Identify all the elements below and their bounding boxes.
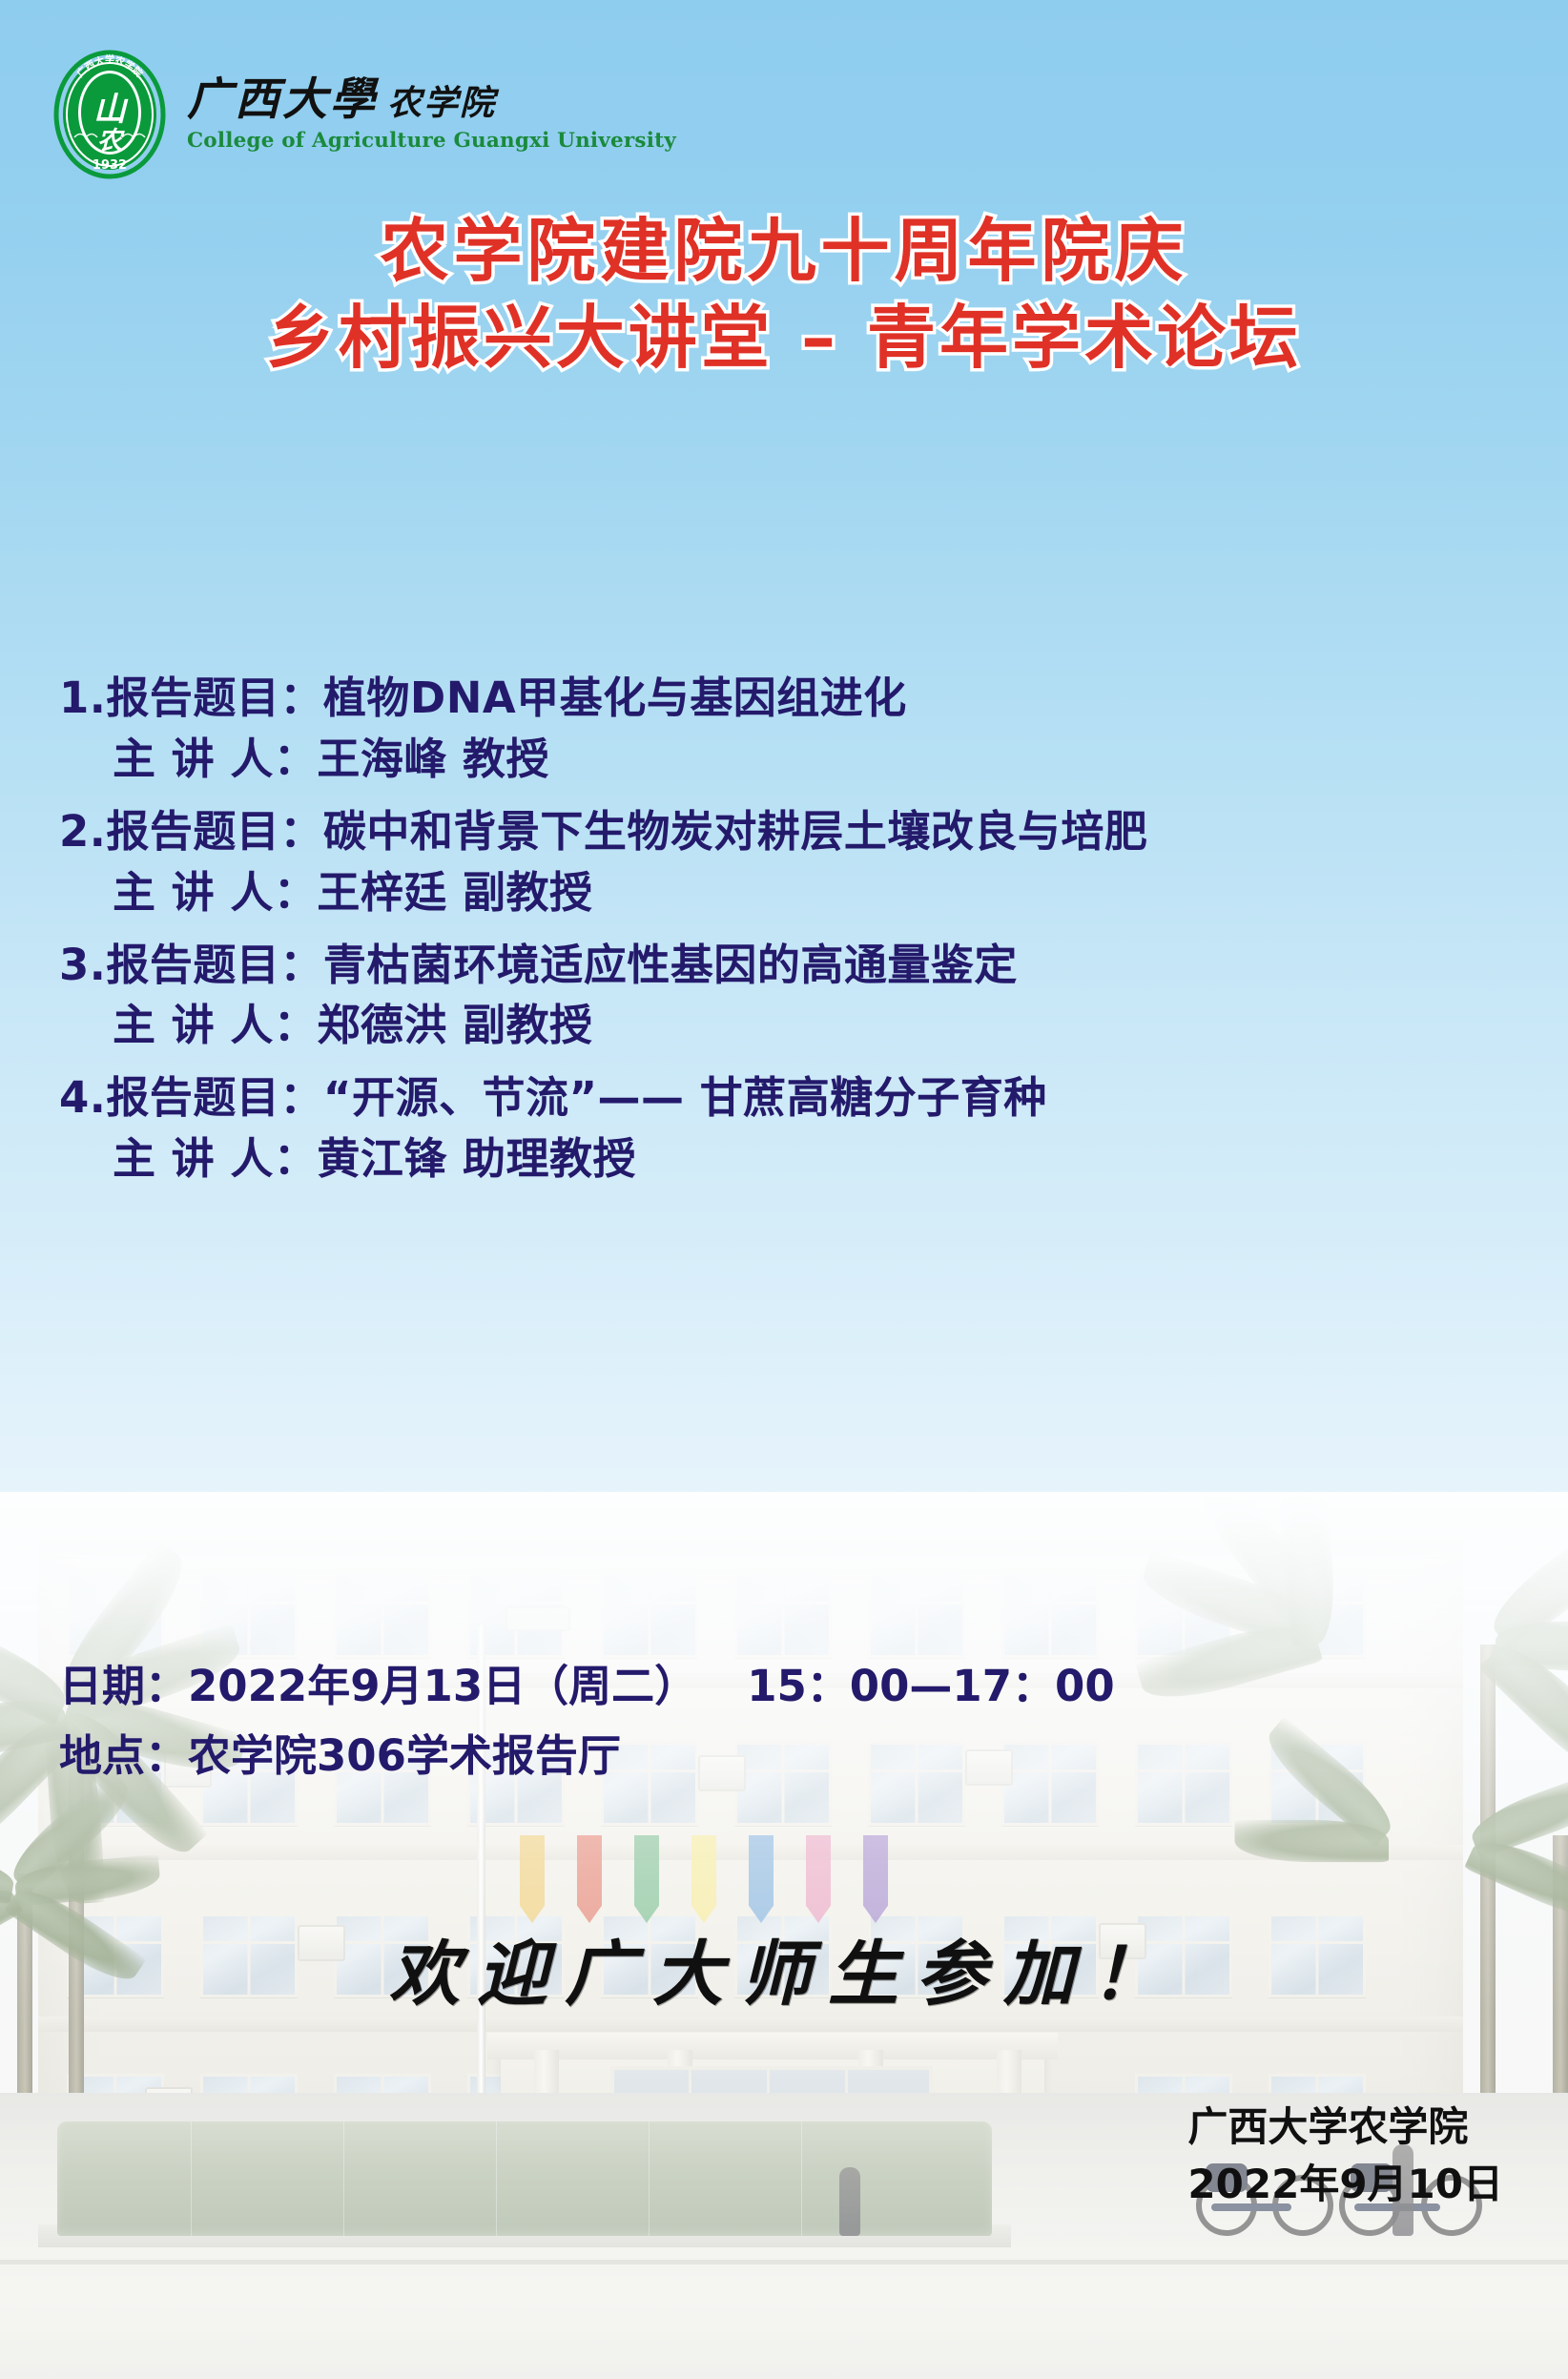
program-item: 3.报告题目：青枯菌环境适应性基因的高通量鉴定 主 讲 人：郑德洪 副教授 xyxy=(59,935,1530,1057)
seal-year: 1932 xyxy=(93,158,127,173)
poster-content: 广西大学农学院 山 农 1932 广西大學农学院 College of Agri… xyxy=(0,0,1568,2379)
wordmark-chinese: 广西大學农学院 xyxy=(187,76,676,123)
event-logistics: 日期：2022年9月13日（周二）15：00—17：00 地点：农学院306学术… xyxy=(59,1652,1115,1791)
program-number: 3. xyxy=(59,935,106,996)
signature-organization: 广西大学农学院 xyxy=(1187,2099,1503,2156)
title-line-2: 乡村振兴大讲堂 – 青年学术论坛 xyxy=(0,295,1568,382)
program-list: 1.报告题目：植物DNA甲基化与基因组进化 主 讲 人：王海峰 教授 2.报告题… xyxy=(59,668,1530,1201)
title-line-1: 农学院建院九十周年院庆 xyxy=(0,208,1568,295)
wordmark-english: College of Agriculture Guangxi Universit… xyxy=(187,129,676,153)
program-number: 2. xyxy=(59,801,106,862)
svg-text:山: 山 xyxy=(93,91,129,129)
program-topic-text: 报告题目：碳中和背景下生物炭对耕层土壤改良与培肥 xyxy=(106,806,1147,857)
svg-text:农: 农 xyxy=(97,127,125,155)
event-time: 15：00—17：00 xyxy=(747,1661,1115,1711)
program-topic: 3.报告题目：青枯菌环境适应性基因的高通量鉴定 xyxy=(59,935,1530,996)
program-item: 1.报告题目：植物DNA甲基化与基因组进化 主 讲 人：王海峰 教授 xyxy=(59,668,1530,790)
wordmark-university-name: 广西大學 xyxy=(187,73,378,126)
poster-canvas: 广西大学农学院 山 农 1932 广西大學农学院 College of Agri… xyxy=(0,0,1568,2379)
program-topic: 4.报告题目：“开源、节流”—— 甘蔗高糖分子育种 xyxy=(59,1067,1530,1128)
signature-block: 广西大学农学院 2022年9月10日 xyxy=(1187,2099,1503,2212)
program-item: 2.报告题目：碳中和背景下生物炭对耕层土壤改良与培肥 主 讲 人：王梓廷 副教授 xyxy=(59,801,1530,923)
college-wordmark: 广西大學农学院 College of Agriculture Guangxi U… xyxy=(187,76,676,152)
program-speaker: 主 讲 人：王梓廷 副教授 xyxy=(113,862,1530,923)
event-date-line: 日期：2022年9月13日（周二）15：00—17：00 xyxy=(59,1652,1115,1722)
wordmark-college-name: 农学院 xyxy=(387,83,496,123)
college-logo: 广西大学农学院 山 农 1932 广西大學农学院 College of Agri… xyxy=(53,50,676,179)
program-topic-text: 报告题目：植物DNA甲基化与基因组进化 xyxy=(106,672,906,723)
program-topic: 1.报告题目：植物DNA甲基化与基因组进化 xyxy=(59,668,1530,729)
program-topic: 2.报告题目：碳中和背景下生物炭对耕层土壤改良与培肥 xyxy=(59,801,1530,862)
program-speaker: 主 讲 人：王海峰 教授 xyxy=(113,729,1530,790)
program-speaker: 主 讲 人：郑德洪 副教授 xyxy=(113,995,1530,1056)
event-venue: 地点：农学院306学术报告厅 xyxy=(59,1722,1115,1791)
signature-date: 2022年9月10日 xyxy=(1187,2156,1503,2213)
program-number: 4. xyxy=(59,1067,106,1128)
program-item: 4.报告题目：“开源、节流”—— 甘蔗高糖分子育种 主 讲 人：黄江锋 助理教授 xyxy=(59,1067,1530,1189)
poster-title: 农学院建院九十周年院庆 乡村振兴大讲堂 – 青年学术论坛 xyxy=(0,208,1568,381)
program-number: 1. xyxy=(59,668,106,729)
program-topic-text: 报告题目：青枯菌环境适应性基因的高通量鉴定 xyxy=(106,940,1018,990)
guangxi-university-agriculture-seal-icon: 广西大学农学院 山 农 1932 xyxy=(53,50,166,179)
program-speaker: 主 讲 人：黄江锋 助理教授 xyxy=(113,1128,1530,1189)
event-date: 日期：2022年9月13日（周二） xyxy=(59,1661,697,1711)
program-topic-text: 报告题目：“开源、节流”—— 甘蔗高糖分子育种 xyxy=(106,1072,1046,1123)
welcome-calligraphy: 欢迎广大师生参加！ xyxy=(0,1917,1568,2019)
